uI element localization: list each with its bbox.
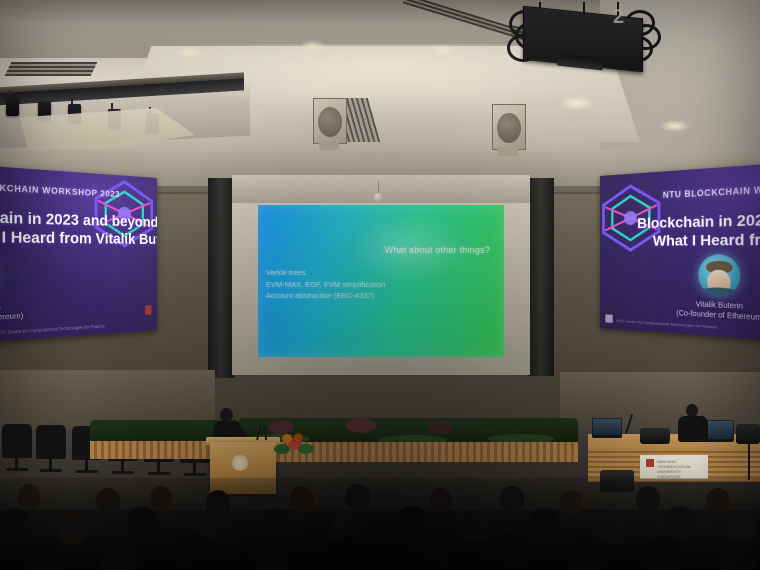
audience-head: [706, 488, 730, 513]
recessed-downlight: [560, 96, 594, 110]
audience-head: [0, 508, 30, 540]
seated-audience: [0, 478, 760, 570]
wall-speaker: [313, 98, 347, 144]
right-projection-screen: NTU BLOCKCHAIN WORKSHOP 2023 Blockchain …: [600, 159, 760, 345]
recessed-downlight: [300, 40, 326, 52]
podium-emblem: [232, 455, 248, 471]
audience-head: [24, 536, 62, 570]
audience-head: [290, 486, 314, 512]
audience-head: [718, 540, 756, 570]
audience-head: [430, 488, 452, 512]
audience-head: [96, 488, 120, 513]
projected-slide-surface: What about other things? Verkle trees EV…: [258, 205, 504, 357]
university-logo: [646, 459, 654, 467]
left-projection-screen: NTU BLOCKCHAIN WORKSHOP 2023 Blockchain …: [0, 161, 157, 347]
projector-number-label: 2: [613, 6, 624, 29]
audience-head: [664, 506, 696, 540]
audience-head: [58, 512, 88, 544]
list-item: Verkle trees: [266, 267, 496, 279]
camera-tripod: [748, 444, 750, 480]
recessed-downlight: [176, 46, 202, 58]
audience-head: [598, 512, 628, 544]
slide-title-line2: What I Heard from Vitalik Buterin: [0, 227, 157, 249]
speaker-portrait: [698, 254, 740, 297]
stage-spotlight: [6, 96, 19, 116]
audience-head: [486, 534, 526, 570]
audience-head: [636, 486, 660, 512]
audience-head: [462, 510, 492, 542]
slide-question-title: What about other things?: [385, 245, 490, 255]
audience-head: [644, 536, 684, 570]
list-item: EVM-MAX, EOF, EVM simplification: [266, 279, 496, 291]
audience-head: [500, 486, 524, 511]
wall-speaker: [492, 104, 526, 150]
audience-head: [528, 508, 560, 542]
stage-chair: [2, 424, 32, 458]
main-projection-screen: What about other things? Verkle trees EV…: [232, 175, 530, 375]
audience-head: [396, 506, 428, 540]
stage-chair: [36, 425, 66, 459]
audience-head: [176, 534, 216, 570]
list-item: Account abstraction (ERC-4337): [266, 290, 496, 302]
ceiling: 2: [0, 0, 760, 175]
screen-pull-knob: [374, 193, 383, 202]
slide-accent-tab: [145, 305, 151, 314]
recessed-downlight: [660, 120, 690, 132]
desk-signage-text: NANYANG TECHNOLOGICAL UNIVERSITY SINGAPO…: [657, 459, 691, 479]
ceiling-projector-rig: 2: [505, 4, 660, 76]
audience-head: [560, 490, 582, 514]
podium-flower-arrangement: [272, 432, 318, 458]
audience-head: [330, 536, 370, 570]
air-vent-grille: [5, 62, 98, 76]
audience-head: [18, 484, 40, 508]
audience-head: [150, 486, 172, 510]
video-camera: [640, 428, 670, 444]
control-monitor: [592, 418, 622, 438]
audience-head: [100, 540, 138, 570]
recessed-downlight: [430, 44, 456, 56]
audience-head: [566, 538, 604, 570]
video-camera: [736, 424, 760, 444]
slide-bullet-list: Verkle trees EVM-MAX, EOF, EVM simplific…: [266, 267, 496, 302]
audience-head: [346, 484, 370, 510]
audience-head: [126, 506, 158, 540]
university-logo: [605, 314, 612, 323]
audience-head: [260, 508, 292, 542]
audience-head: [726, 510, 756, 542]
screen-side-curtain: [208, 178, 234, 378]
audience-head: [410, 540, 448, 570]
screen-side-curtain: [528, 178, 554, 376]
audience-head: [252, 538, 290, 570]
auditorium-photo: 2 NTU BLOCKCHAIN WORKSHOP 2023 Blockchai…: [0, 0, 760, 570]
